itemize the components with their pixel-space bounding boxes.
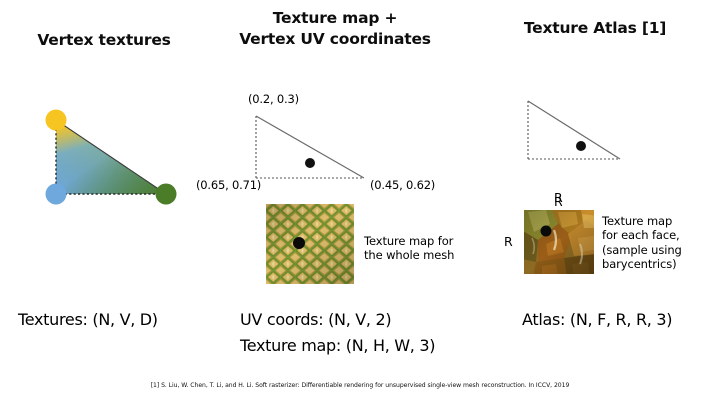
- shape-label-atlas: Atlas: (N, F, R, R, 3): [522, 310, 672, 329]
- atlas-texture-sample-point-dot: [541, 226, 552, 237]
- vertex-dot-bottom-left: [46, 184, 67, 205]
- shape-label-textures: Textures: (N, V, D): [18, 310, 158, 329]
- footer-citation: [1] S. Liu, W. Chen, T. Li, and H. Li. S…: [0, 382, 720, 389]
- uv-triangle-edge-hypotenuse: [256, 116, 364, 178]
- texture-sample-point-dot: [293, 237, 305, 249]
- vertex-dot-top-left: [46, 110, 67, 131]
- uv-coordinate-left: (0.65, 0.71): [196, 178, 261, 192]
- caption-texture-map-whole-mesh: Texture map for the whole mesh: [364, 234, 494, 263]
- heading-texture-map-uv: Texture map + Vertex UV coordinates: [190, 8, 480, 50]
- atlas-swatch-r-label-top: R: [554, 194, 563, 209]
- uv-coordinate-right: (0.45, 0.62): [370, 178, 435, 192]
- heading-vertex-textures: Vertex textures: [0, 30, 208, 51]
- diagram-vertex-textures-triangle: [30, 108, 190, 210]
- caption-texture-map-each-face: Texture map for each face, (sample using…: [602, 214, 720, 272]
- shape-label-texture-map: Texture map: (N, H, W, 3): [240, 336, 435, 355]
- heading-texture-atlas: Texture Atlas [1]: [470, 18, 720, 39]
- diagram-atlas-triangle: [520, 96, 630, 178]
- texture-swatch-atlas-face: [524, 210, 594, 274]
- uv-coordinate-top: (0.2, 0.3): [248, 92, 299, 106]
- shape-label-uv-coords: UV coords: (N, V, 2): [240, 310, 391, 329]
- slide-canvas: Vertex textures: [0, 0, 720, 405]
- atlas-triangle-edge-hypotenuse: [528, 101, 620, 159]
- vertex-dot-bottom-right: [156, 184, 177, 205]
- texture-swatch-pineapple-full: [266, 204, 354, 284]
- uv-sample-point-dot: [305, 158, 315, 168]
- atlas-swatch-r-label-left: R: [504, 234, 513, 249]
- atlas-sample-point-dot: [576, 141, 586, 151]
- diagram-uv-triangle: [248, 110, 373, 190]
